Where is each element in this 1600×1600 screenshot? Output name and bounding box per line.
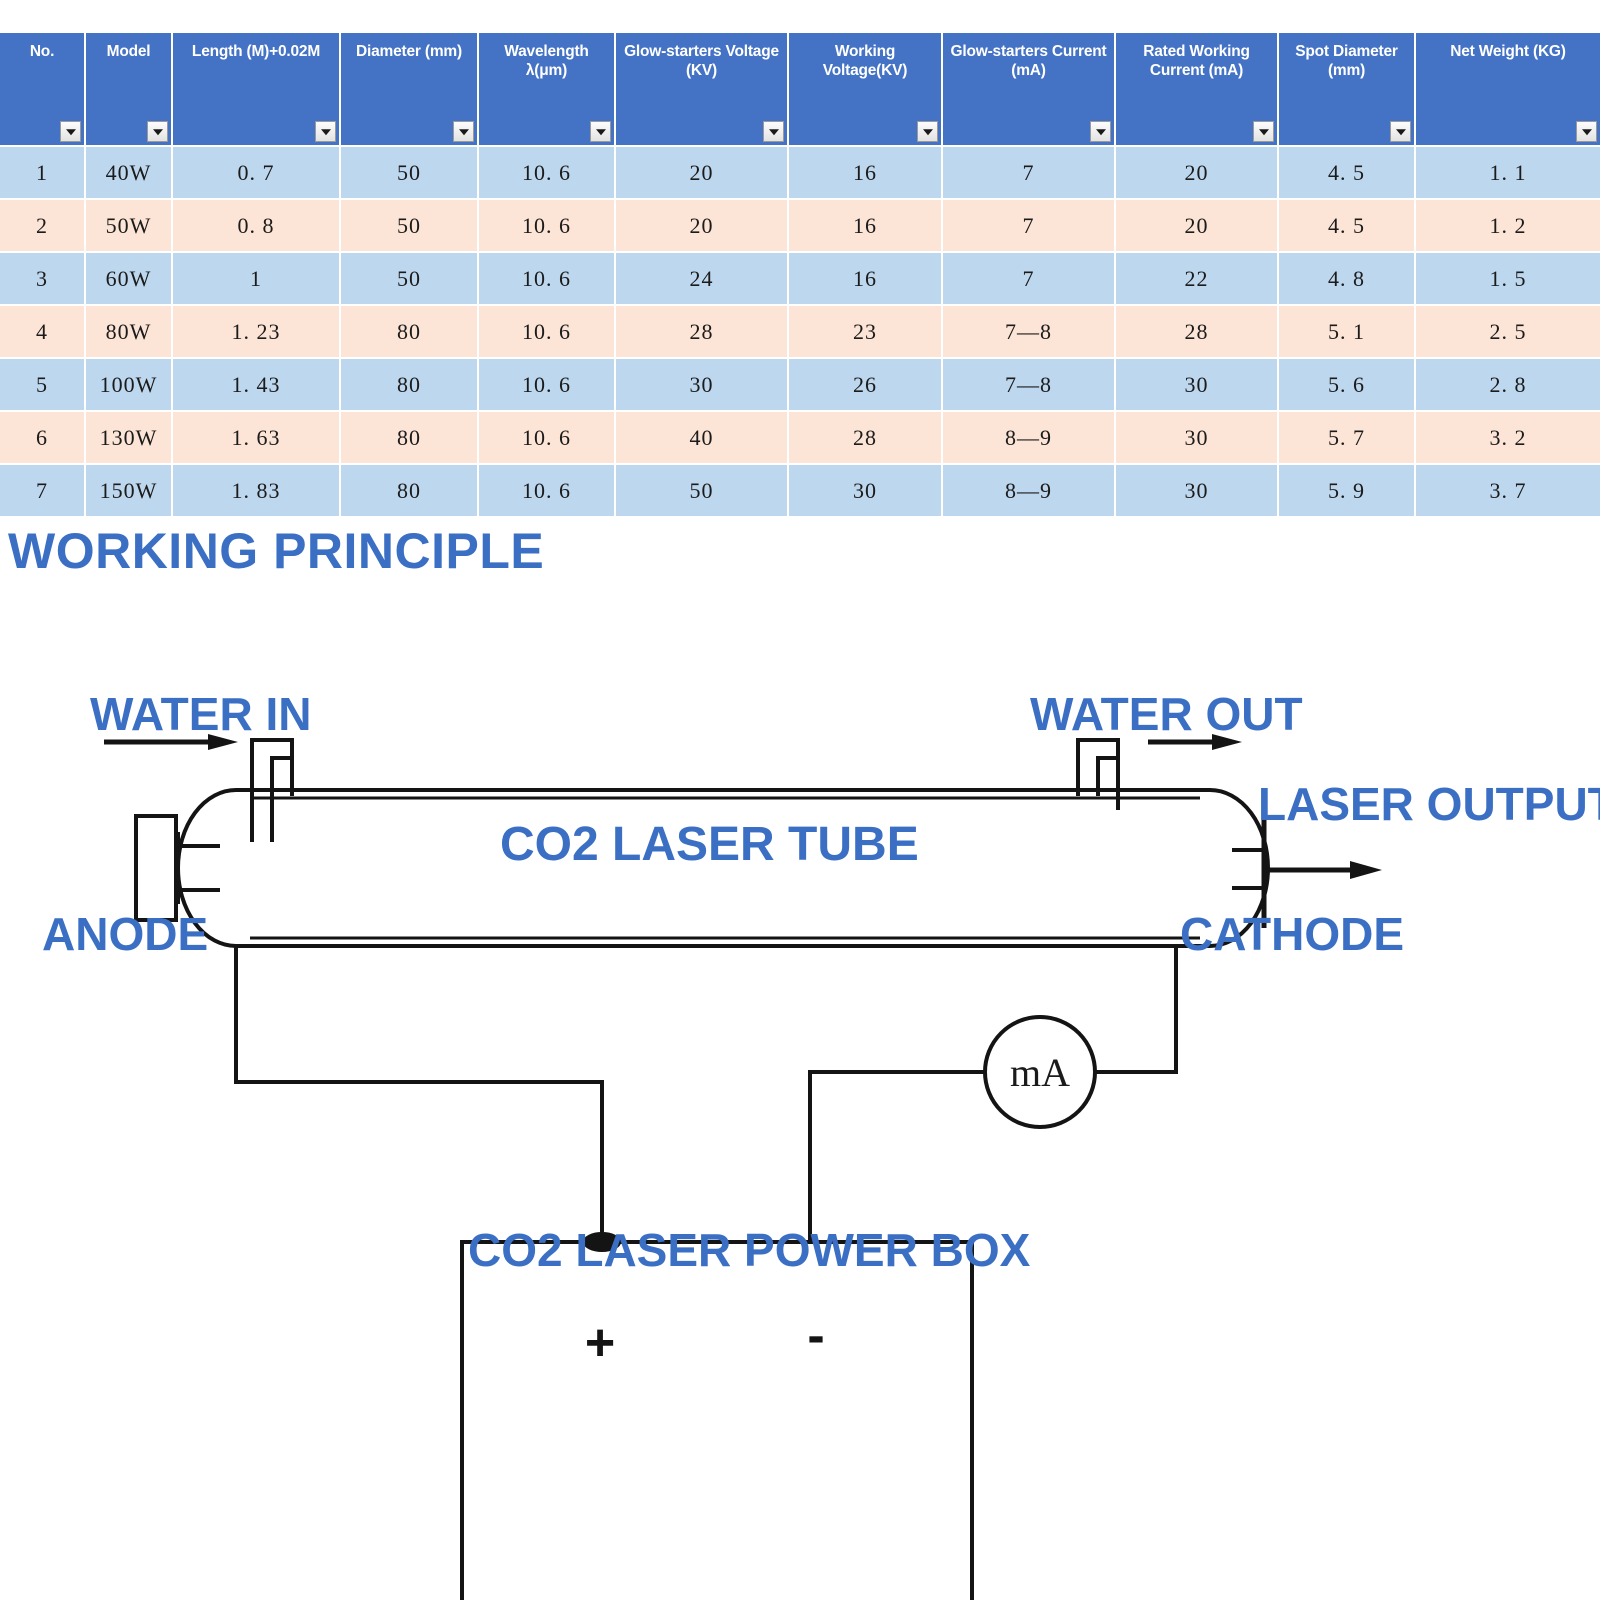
table-cell: 1. 5 [1415,252,1600,305]
table-cell: 4 [0,305,85,358]
chevron-down-icon[interactable] [1253,121,1274,142]
table-cell: 7 [942,199,1115,252]
label-laser-output: LASER OUTPUT [1258,778,1600,830]
chevron-down-icon[interactable] [917,121,938,142]
table-cell: 4. 5 [1278,199,1415,252]
table-cell: 60W [85,252,172,305]
column-header-label: Wavelength λ(μm) [504,43,588,79]
table-cell: 2. 8 [1415,358,1600,411]
table-cell: 3. 2 [1415,411,1600,464]
table-cell: 0. 7 [172,146,340,199]
anode-wire [236,946,602,1242]
table-cell: 28 [788,411,942,464]
table-cell: 20 [615,146,788,199]
column-header-label: Net Weight (KG) [1450,43,1566,60]
anode-mount-bracket [136,816,176,920]
table-cell: 5. 9 [1278,464,1415,516]
table-cell: 7 [942,146,1115,199]
column-header-no[interactable]: No. [0,33,85,146]
table-row: 140W0. 75010. 620167204. 51. 1 [0,146,1600,199]
chevron-down-icon[interactable] [763,121,784,142]
column-header-model[interactable]: Model [85,33,172,146]
table-cell: 20 [615,199,788,252]
table-cell: 1. 83 [172,464,340,516]
table-cell: 1 [0,146,85,199]
table-row: 6130W1. 638010. 640288—9305. 73. 2 [0,411,1600,464]
table-cell: 24 [615,252,788,305]
column-header-label: No. [30,43,54,60]
table-cell: 1. 1 [1415,146,1600,199]
table-cell: 130W [85,411,172,464]
column-header-label: Diameter (mm) [356,43,462,60]
table-cell: 5. 6 [1278,358,1415,411]
table-cell: 30 [615,358,788,411]
table-header-row: No. Model Length (M)+0.02M Diameter (mm)… [0,33,1600,146]
table-cell: 28 [615,305,788,358]
milliamp-meter-label: mA [1010,1050,1070,1095]
table-cell: 16 [788,199,942,252]
table-cell: 30 [1115,358,1278,411]
chevron-down-icon[interactable] [147,121,168,142]
table-cell: 10. 6 [478,199,615,252]
chevron-down-icon[interactable] [60,121,81,142]
column-header-label: Working Voltage(KV) [823,43,908,79]
label-laser-tube: CO2 LASER TUBE [500,818,919,871]
table-cell: 3 [0,252,85,305]
table-cell: 7 [942,252,1115,305]
column-header-label: Glow-starters Current (mA) [951,43,1107,79]
laser-output-arrow-head [1350,861,1382,879]
chevron-down-icon[interactable] [453,121,474,142]
table-cell: 100W [85,358,172,411]
table-cell: 7 [0,464,85,516]
table-cell: 80 [340,305,478,358]
table-cell: 0. 8 [172,199,340,252]
table-row: 250W0. 85010. 620167204. 51. 2 [0,199,1600,252]
table-cell: 5. 1 [1278,305,1415,358]
label-cathode: CATHODE [1180,908,1404,960]
table-cell: 80 [340,358,478,411]
table-cell: 1. 63 [172,411,340,464]
table-cell: 4. 8 [1278,252,1415,305]
column-header-net-weight[interactable]: Net Weight (KG) [1415,33,1600,146]
table-cell: 10. 6 [478,305,615,358]
table-cell: 10. 6 [478,411,615,464]
column-header-label: Glow-starters Voltage (KV) [624,43,779,79]
table-cell: 1. 43 [172,358,340,411]
table-cell: 2 [0,199,85,252]
water-in-pipe-inner [272,758,292,842]
chevron-down-icon[interactable] [590,121,611,142]
table-cell: 7—8 [942,305,1115,358]
table-cell: 26 [788,358,942,411]
table-cell: 40W [85,146,172,199]
table-cell: 5 [0,358,85,411]
power-box [462,1242,972,1600]
column-header-length[interactable]: Length (M)+0.02M [172,33,340,146]
column-header-working-voltage[interactable]: Working Voltage(KV) [788,33,942,146]
table-cell: 20 [1115,199,1278,252]
table-cell: 8—9 [942,464,1115,516]
table-cell: 4. 5 [1278,146,1415,199]
negative-terminal-label: - [807,1307,824,1365]
table-row: 480W1. 238010. 628237—8285. 12. 5 [0,305,1600,358]
table-cell: 80 [340,411,478,464]
table-cell: 50W [85,199,172,252]
table-cell: 40 [615,411,788,464]
positive-terminal-label: + [585,1314,615,1372]
table-cell: 30 [1115,464,1278,516]
column-header-spot-diameter[interactable]: Spot Diameter (mm) [1278,33,1415,146]
table-cell: 3. 7 [1415,464,1600,516]
table-cell: 10. 6 [478,146,615,199]
page-title: WORKING PRINCIPLE [8,522,544,580]
column-header-label: Spot Diameter (mm) [1295,43,1397,79]
label-power-box: CO2 LASER POWER BOX [468,1224,1031,1276]
table-row: 360W15010. 624167224. 81. 5 [0,252,1600,305]
label-anode: ANODE [42,908,208,960]
table-cell: 30 [1115,411,1278,464]
table-cell: 22 [1115,252,1278,305]
chevron-down-icon[interactable] [1390,121,1411,142]
table-cell: 10. 6 [478,252,615,305]
column-header-glow-starters-voltage[interactable]: Glow-starters Voltage (KV) [615,33,788,146]
column-header-wavelength[interactable]: Wavelength λ(μm) [478,33,615,146]
table-row: 7150W1. 838010. 650308—9305. 93. 7 [0,464,1600,516]
chevron-down-icon[interactable] [1090,121,1111,142]
table-cell: 20 [1115,146,1278,199]
table-cell: 10. 6 [478,358,615,411]
column-header-label: Rated Working Current (mA) [1143,43,1249,79]
table-cell: 6 [0,411,85,464]
table-cell: 50 [340,146,478,199]
chevron-down-icon[interactable] [1576,121,1597,142]
table-cell: 1. 2 [1415,199,1600,252]
table-cell: 1 [172,252,340,305]
table-cell: 16 [788,146,942,199]
cathode-wire-meter-left [810,1072,985,1242]
table-cell: 50 [340,252,478,305]
table-cell: 2. 5 [1415,305,1600,358]
column-header-diameter[interactable]: Diameter (mm) [340,33,478,146]
table-cell: 1. 23 [172,305,340,358]
table-cell: 150W [85,464,172,516]
table-cell: 23 [788,305,942,358]
column-header-label: Length (M)+0.02M [192,43,320,60]
chevron-down-icon[interactable] [315,121,336,142]
cathode-wire-right [1095,946,1176,1072]
column-header-glow-starters-current[interactable]: Glow-starters Current (mA) [942,33,1115,146]
table-cell: 50 [615,464,788,516]
specifications-table: No. Model Length (M)+0.02M Diameter (mm)… [0,33,1600,516]
table-cell: 50 [340,199,478,252]
label-water-in: WATER IN [90,688,311,740]
column-header-label: Model [107,43,151,60]
table-cell: 16 [788,252,942,305]
table-cell: 30 [788,464,942,516]
table-cell: 28 [1115,305,1278,358]
table-cell: 10. 6 [478,464,615,516]
working-principle-diagram: 123456 + - mA WATER IN WATER OUT LASER O… [0,620,1600,1600]
column-header-rated-working-current[interactable]: Rated Working Current (mA) [1115,33,1278,146]
table-cell: 7—8 [942,358,1115,411]
table-cell: 80W [85,305,172,358]
table-row: 5100W1. 438010. 630267—8305. 62. 8 [0,358,1600,411]
table-cell: 5. 7 [1278,411,1415,464]
table-cell: 8—9 [942,411,1115,464]
table-cell: 80 [340,464,478,516]
label-water-out: WATER OUT [1030,688,1303,740]
